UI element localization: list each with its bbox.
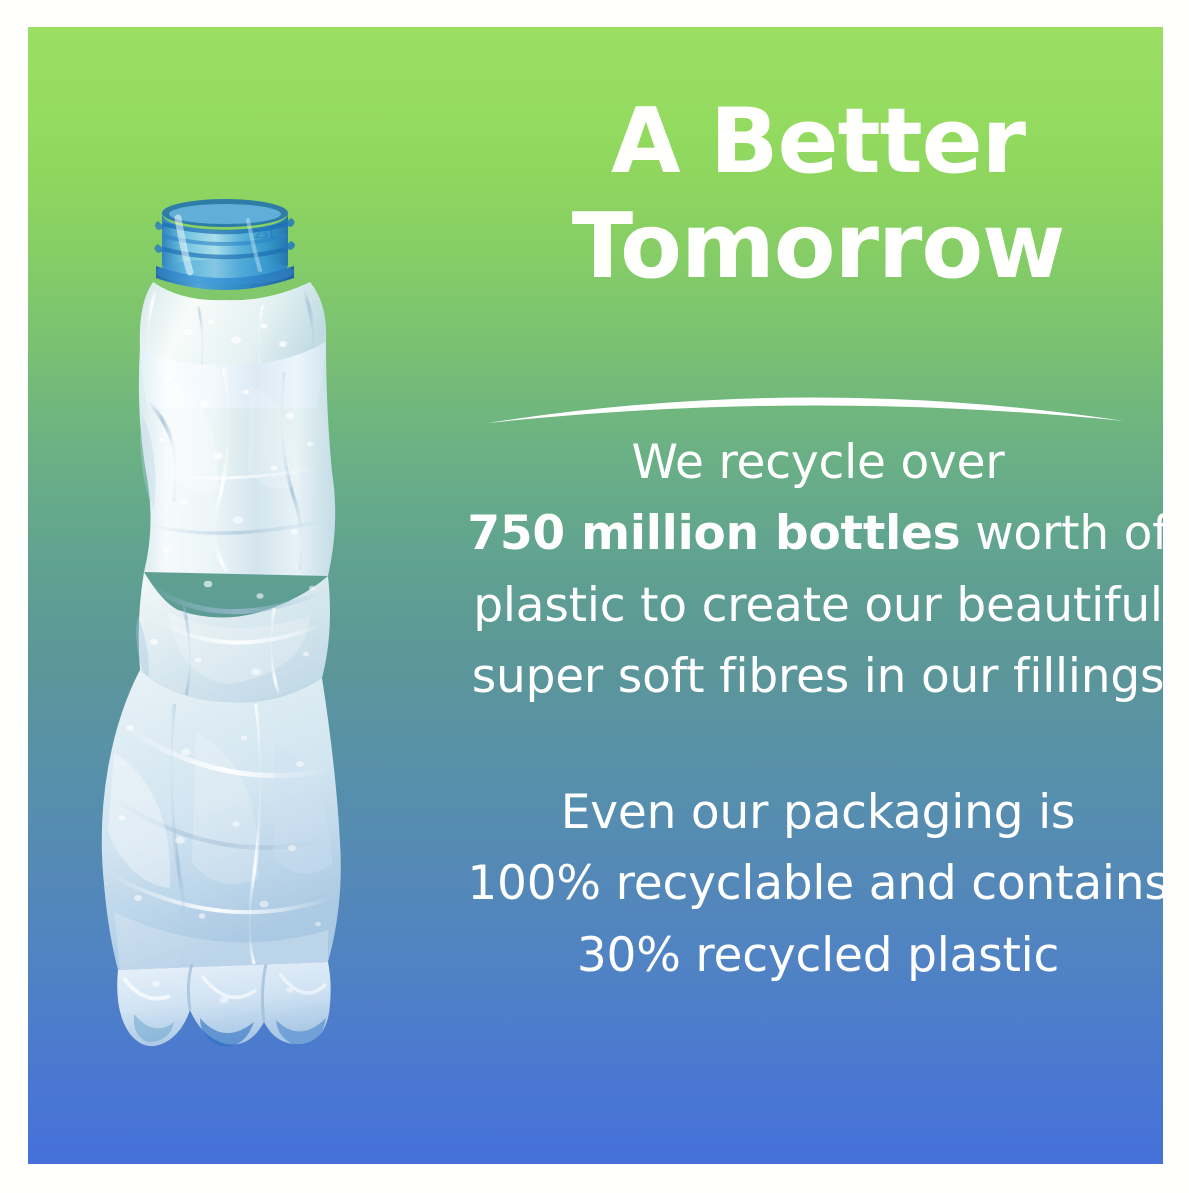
text-column: A Better Tomorrow We recycle over 750 mi… xyxy=(448,27,1163,1164)
copy-line: Even our packaging is xyxy=(448,777,1163,848)
copy-line: We recycle over xyxy=(448,427,1163,498)
bottle-lower-body xyxy=(102,670,341,970)
page-title: A Better Tomorrow xyxy=(448,89,1163,300)
body-copy: We recycle over 750 million bottles wort… xyxy=(448,427,1163,991)
highlight-stat: 750 million bottles xyxy=(467,506,960,561)
crushed-plastic-bottle-photo: 231 xyxy=(78,172,408,1072)
copy-line: plastic to create our beautiful xyxy=(448,570,1163,641)
copy-line: 100% recyclable and contains xyxy=(448,848,1163,919)
bottle-neck: 231 xyxy=(155,199,296,290)
svg-text:231: 231 xyxy=(254,228,275,241)
bottle-base xyxy=(117,962,330,1047)
copy-line: super soft fibres in our fillings xyxy=(448,641,1163,712)
copy-line: 750 million bottles worth of xyxy=(448,498,1163,569)
paragraph-spacer xyxy=(448,713,1163,777)
arc-divider-shape xyxy=(486,367,1126,429)
gradient-background: 231 xyxy=(28,27,1163,1164)
curved-arc-divider xyxy=(486,367,1126,429)
headline-line-1: A Better xyxy=(448,89,1163,194)
bottle-middle-twist xyxy=(136,572,330,703)
headline-line-2: Tomorrow xyxy=(448,194,1163,299)
bottle-illustration: 231 xyxy=(78,172,408,1072)
paragraph-packaging-claim: Even our packaging is 100% recyclable an… xyxy=(448,777,1163,991)
poster-root: 231 xyxy=(0,0,1189,1193)
copy-line: 30% recycled plastic xyxy=(448,920,1163,991)
paragraph-recycling-claim: We recycle over 750 million bottles wort… xyxy=(448,427,1163,713)
